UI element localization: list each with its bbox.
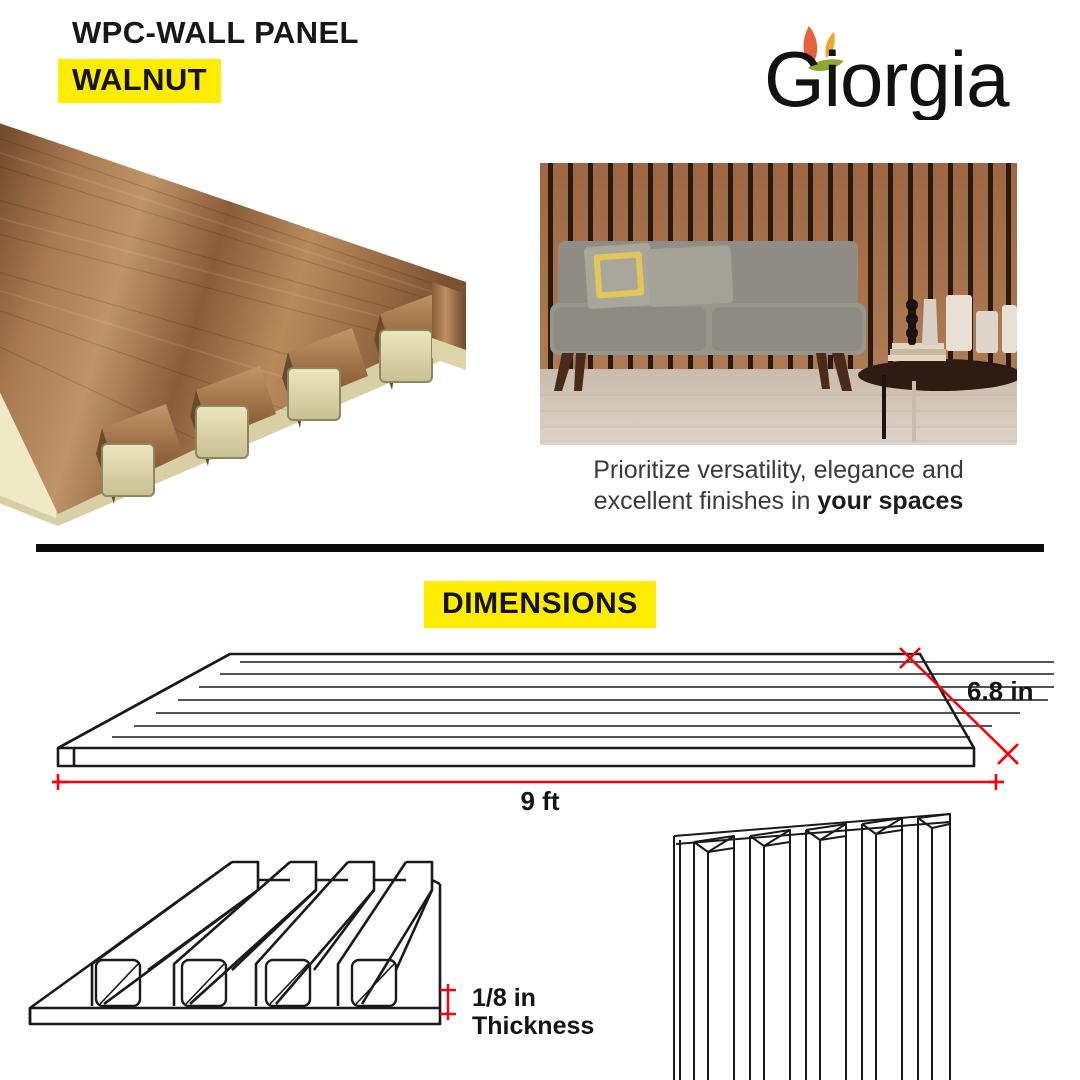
tagline-line-2-bold: your spaces	[817, 487, 963, 515]
brand-logo: Giorgia	[764, 16, 1024, 120]
brand-wordmark: Giorgia	[764, 35, 1010, 120]
thickness-caption: Thickness	[472, 1012, 594, 1040]
room-scene-photo	[540, 163, 1017, 445]
variant-badge: WALNUT	[58, 59, 221, 103]
panel-cross-section-drawing	[26, 838, 496, 1048]
panel-top-view-drawing	[34, 636, 1054, 806]
dimensions-heading: DIMENSIONS	[424, 581, 656, 628]
section-divider	[36, 544, 1044, 552]
page-title: WPC-WALL PANEL	[72, 16, 578, 50]
width-dimension-label: 6.8 in	[967, 676, 1033, 707]
dimensions-heading-wrap: DIMENSIONS	[0, 581, 1080, 628]
tagline-line-1: Prioritize versatility, elegance and	[593, 456, 964, 484]
title-block: WPC-WALL PANEL WALNUT	[58, 16, 578, 103]
tagline-line-2-normal: excellent finishes in	[594, 487, 818, 515]
spec-sheet: WPC-WALL PANEL WALNUT Giorgia	[0, 0, 1080, 1080]
product-photo	[0, 122, 466, 540]
panel-vertical-view-drawing	[650, 800, 970, 1080]
tagline: Prioritize versatility, elegance and exc…	[540, 455, 1017, 518]
thickness-dimension-label: 1/8 in Thickness	[472, 984, 594, 1040]
thickness-value: 1/8 in	[472, 984, 594, 1012]
variant-badge-wrap: WALNUT	[58, 59, 578, 103]
